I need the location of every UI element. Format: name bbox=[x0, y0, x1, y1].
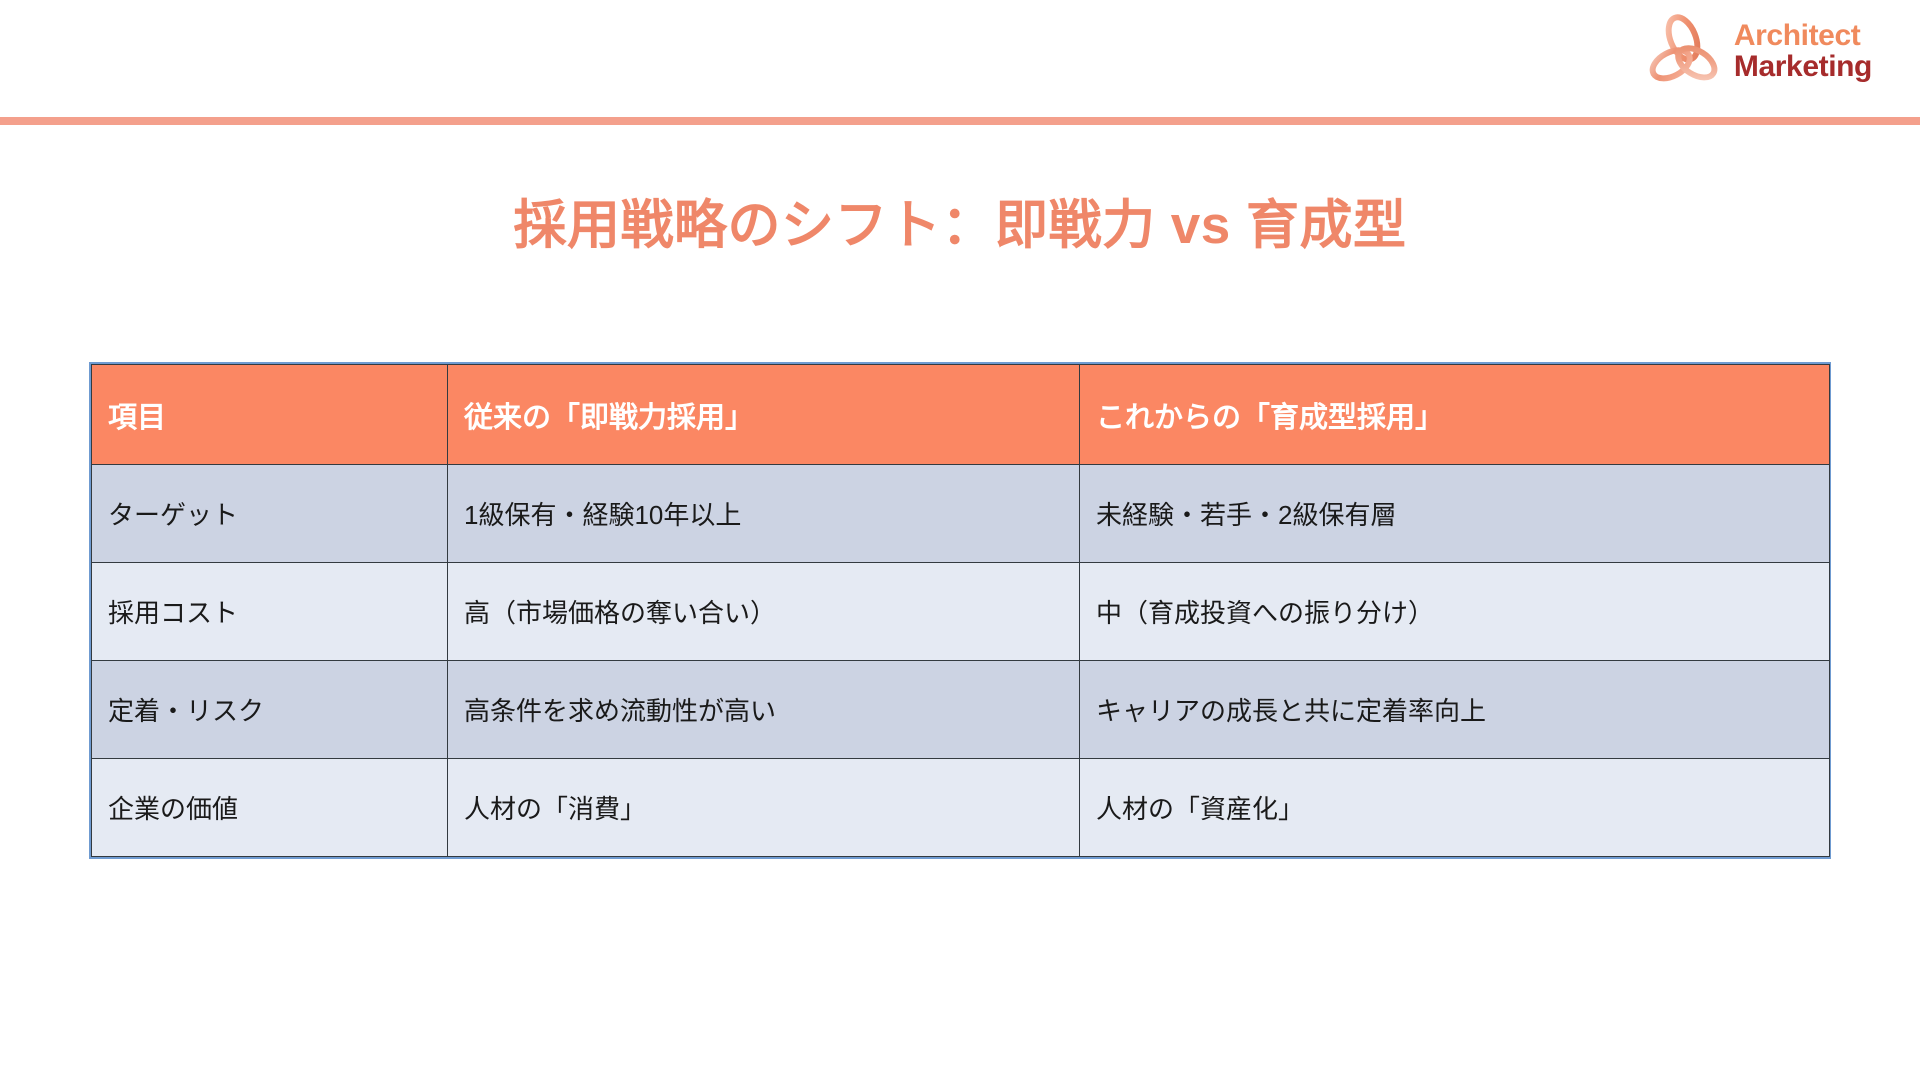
table-row: ターゲット 1級保有・経験10年以上 未経験・若手・2級保有層 bbox=[92, 465, 1830, 563]
slide-canvas: Architect Marketing 採用戦略のシフト：即戦力 vs 育成型 … bbox=[0, 0, 1920, 1080]
cell-legacy: 高（市場価格の奪い合い） bbox=[448, 563, 1080, 661]
trefoil-knot-icon bbox=[1646, 14, 1720, 88]
cell-future: 未経験・若手・2級保有層 bbox=[1080, 465, 1830, 563]
table-row: 企業の価値 人材の「消費」 人材の「資産化」 bbox=[92, 759, 1830, 857]
column-header-legacy: 従来の「即戦力採用」 bbox=[448, 365, 1080, 465]
brand-logo: Architect Marketing bbox=[1646, 14, 1872, 88]
page-title: 採用戦略のシフト：即戦力 vs 育成型 bbox=[0, 183, 1920, 259]
table-row: 採用コスト 高（市場価格の奪い合い） 中（育成投資への振り分け） bbox=[92, 563, 1830, 661]
header-rule bbox=[0, 117, 1920, 125]
brand-name-line1: Architect bbox=[1734, 20, 1872, 51]
brand-wordmark: Architect Marketing bbox=[1734, 20, 1872, 82]
cell-item: 定着・リスク bbox=[92, 661, 448, 759]
cell-item: 企業の価値 bbox=[92, 759, 448, 857]
cell-future: 人材の「資産化」 bbox=[1080, 759, 1830, 857]
cell-legacy: 人材の「消費」 bbox=[448, 759, 1080, 857]
cell-legacy: 1級保有・経験10年以上 bbox=[448, 465, 1080, 563]
comparison-table: 項目 従来の「即戦力採用」 これからの「育成型採用」 ターゲット 1級保有・経験… bbox=[91, 364, 1830, 857]
cell-legacy: 高条件を求め流動性が高い bbox=[448, 661, 1080, 759]
cell-item: 採用コスト bbox=[92, 563, 448, 661]
table-header-row: 項目 従来の「即戦力採用」 これからの「育成型採用」 bbox=[92, 365, 1830, 465]
column-header-future: これからの「育成型採用」 bbox=[1080, 365, 1830, 465]
column-header-item: 項目 bbox=[92, 365, 448, 465]
comparison-table-container[interactable]: 項目 従来の「即戦力採用」 これからの「育成型採用」 ターゲット 1級保有・経験… bbox=[89, 362, 1831, 859]
table-row: 定着・リスク 高条件を求め流動性が高い キャリアの成長と共に定着率向上 bbox=[92, 661, 1830, 759]
cell-future: 中（育成投資への振り分け） bbox=[1080, 563, 1830, 661]
cell-item: ターゲット bbox=[92, 465, 448, 563]
cell-future: キャリアの成長と共に定着率向上 bbox=[1080, 661, 1830, 759]
brand-name-line2: Marketing bbox=[1734, 51, 1872, 82]
